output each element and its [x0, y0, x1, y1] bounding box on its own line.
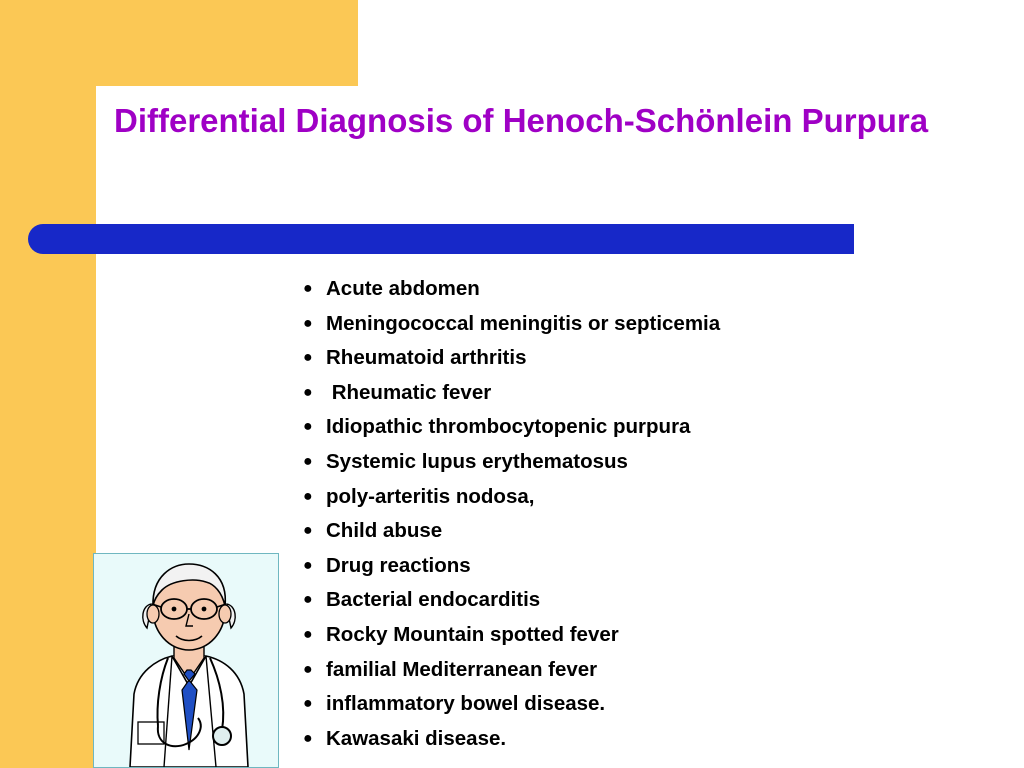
list-item: ● inflammatory bowel disease.	[300, 687, 1000, 722]
list-item: ● Meningococcal meningitis or septicemia	[300, 307, 1000, 342]
bullet-icon: ●	[300, 480, 326, 515]
list-item-label: Rheumatoid arthritis	[326, 341, 526, 376]
bullet-icon: ●	[300, 618, 326, 653]
doctor-illustration	[93, 553, 279, 768]
bullet-icon: ●	[300, 549, 326, 584]
bullet-icon: ●	[300, 445, 326, 480]
list-item: ● Idiopathic thrombocytopenic purpura	[300, 410, 1000, 445]
list-item-label: Bacterial endocarditis	[326, 583, 540, 618]
list-item-label: Systemic lupus erythematosus	[326, 445, 628, 480]
list-item: ● familial Mediterranean fever	[300, 653, 1000, 688]
list-item-label: Acute abdomen	[326, 272, 480, 307]
decorative-band-top	[0, 0, 358, 86]
list-item: ● Rheumatic fever	[300, 376, 1000, 411]
list-item-label: Kawasaki disease.	[326, 722, 506, 757]
list-item: ● Systemic lupus erythematosus	[300, 445, 1000, 480]
list-item: ● Kawasaki disease.	[300, 722, 1000, 757]
list-item: ● poly-arteritis nodosa,	[300, 480, 1000, 515]
list-item-label: poly-arteritis nodosa,	[326, 480, 534, 515]
bullet-icon: ●	[300, 272, 326, 307]
list-item-label: Idiopathic thrombocytopenic purpura	[326, 410, 690, 445]
bullet-icon: ●	[300, 410, 326, 445]
list-item: ● Bacterial endocarditis	[300, 583, 1000, 618]
list-item: ● Rheumatoid arthritis	[300, 341, 1000, 376]
bullet-icon: ●	[300, 687, 326, 722]
bullet-icon: ●	[300, 653, 326, 688]
list-item: ● Drug reactions	[300, 549, 1000, 584]
list-item-label: Meningococcal meningitis or septicemia	[326, 307, 720, 342]
bullet-icon: ●	[300, 583, 326, 618]
bullet-icon: ●	[300, 514, 326, 549]
list-item-label: Child abuse	[326, 514, 442, 549]
list-item-label: inflammatory bowel disease.	[326, 687, 605, 722]
bullet-icon: ●	[300, 722, 326, 757]
bullet-icon: ●	[300, 341, 326, 376]
list-item: ● Rocky Mountain spotted fever	[300, 618, 1000, 653]
bullet-icon: ●	[300, 307, 326, 342]
bullet-list: ● Acute abdomen ● Meningococcal meningit…	[300, 272, 1000, 756]
slide-title: Differential Diagnosis of Henoch-Schönle…	[114, 100, 964, 142]
slide: Differential Diagnosis of Henoch-Schönle…	[0, 0, 1024, 768]
decorative-band-left	[0, 86, 96, 768]
bullet-icon: ●	[300, 376, 326, 411]
list-item-label: Drug reactions	[326, 549, 471, 584]
divider-bar	[28, 224, 854, 254]
list-item: ● Child abuse	[300, 514, 1000, 549]
list-item-label: Rocky Mountain spotted fever	[326, 618, 619, 653]
list-item-label: Rheumatic fever	[326, 376, 491, 411]
list-item-label: familial Mediterranean fever	[326, 653, 597, 688]
list-item: ● Acute abdomen	[300, 272, 1000, 307]
